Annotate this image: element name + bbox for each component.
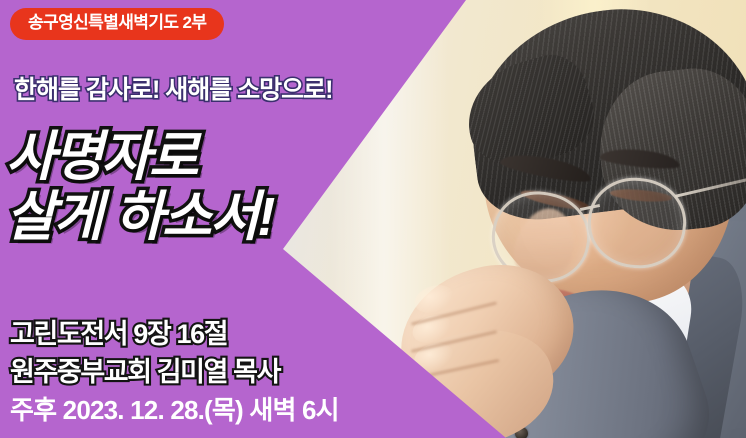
text-overlay: 송구영신특별새벽기도 2부 한해를 감사로! 새해를 소망으로! 사명자로 살게… [0,0,746,438]
headline-line-2: 살게 하소서! [6,172,273,251]
scripture-reference: 고린도전서 9장 16절 [10,312,227,351]
service-datetime: 주후 2023. 12. 28.(목) 새벽 6시 [10,390,339,427]
church-and-pastor: 원주중부교회 김미열 목사 [10,350,280,389]
sermon-poster: 송구영신특별새벽기도 2부 한해를 감사로! 새해를 소망으로! 사명자로 살게… [0,0,746,438]
subtitle-text: 한해를 감사로! 새해를 소망으로! [14,70,333,106]
series-badge: 송구영신특별새벽기도 2부 [10,8,224,40]
